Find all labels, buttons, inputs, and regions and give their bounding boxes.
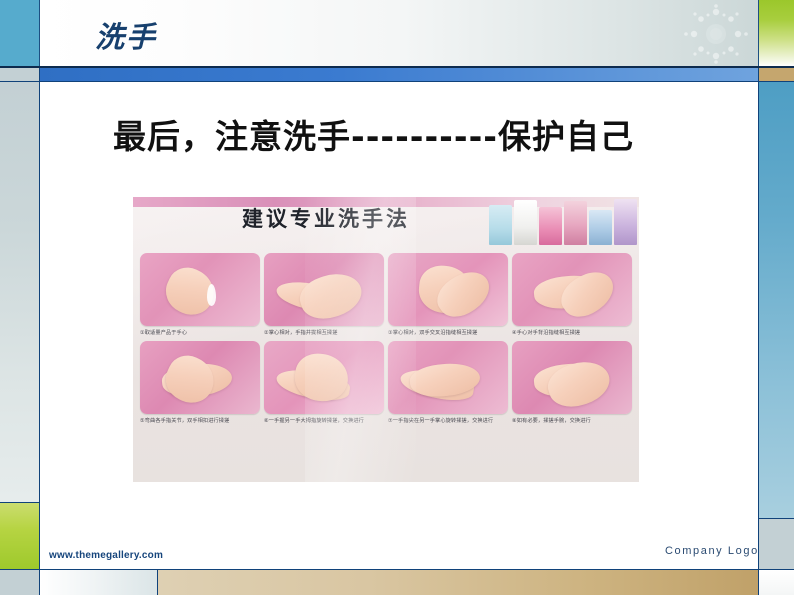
step-cell: ⑦一手指尖在另一手掌心旋转揉搓，交换进行 (388, 341, 508, 425)
header-right-green-block (759, 0, 794, 66)
sidebar-right-divider (759, 518, 794, 519)
step-photo (512, 253, 632, 326)
step-photo (388, 253, 508, 326)
page-title: 洗手 (95, 14, 157, 56)
accent-right-tan (759, 68, 794, 81)
product-bottle (589, 210, 612, 245)
header-underline (0, 66, 794, 68)
footer-left-gray (0, 570, 39, 595)
product-bottle (614, 199, 637, 245)
sidebar-left-divider (0, 502, 40, 503)
sidebar-right-rule (758, 82, 759, 569)
header-green-edge (758, 0, 759, 66)
step-photo (512, 341, 632, 414)
hand-illustration-icon (554, 262, 621, 325)
accent-right-rule (758, 68, 759, 81)
step-photo (264, 341, 384, 414)
footer-rule-a (39, 570, 40, 595)
step-photo (140, 341, 260, 414)
accent-bottom-rule (0, 81, 794, 82)
step-cell: ⑤弯曲各手指关节，双手相扣进行揉搓 (140, 341, 260, 425)
product-bottle (539, 207, 562, 245)
soap-droplet-icon (207, 284, 216, 306)
content-heading: 最后，注意洗手----------保护自己 (113, 110, 634, 158)
accent-blue-bar (40, 68, 758, 81)
sunburst-decoration-icon (668, 2, 764, 66)
step-caption: ⑦一手指尖在另一手掌心旋转揉搓，交换进行 (388, 417, 508, 425)
product-bottle (564, 201, 587, 245)
footer-rule-b (157, 570, 158, 595)
step-cell: ④手心对手背沿指缝相互揉搓 (512, 253, 632, 337)
footer-tan-bar (158, 570, 758, 595)
step-photo (264, 253, 384, 326)
header-divider (39, 0, 40, 66)
accent-left-rule (39, 68, 40, 81)
sidebar-left-green (0, 503, 39, 569)
sidebar-right-gray (759, 519, 794, 569)
step-photo (388, 341, 508, 414)
step-caption: ②掌心相对，手指并拢相互揉搓 (264, 329, 384, 337)
sidebar-left-rule (39, 82, 40, 569)
poster-background: 建议专业洗手法 ①取适量产品于手心 (133, 197, 639, 482)
footer-white-gradient (40, 570, 157, 595)
step-caption: ④手心对手背沿指缝相互揉搓 (512, 329, 632, 337)
hand-illustration-icon (159, 349, 222, 410)
step-cell: ②掌心相对，手指并拢相互揉搓 (264, 253, 384, 337)
step-caption: ⑥一手握另一手大拇指旋转揉搓，交换进行 (264, 417, 384, 425)
footer-rule-c (758, 570, 759, 595)
step-cell: ⑥一手握另一手大拇指旋转揉搓，交换进行 (264, 341, 384, 425)
step-caption: ①取适量产品于手心 (140, 329, 260, 337)
footer-right-white (759, 570, 794, 595)
step-photo (140, 253, 260, 326)
step-cell: ⑧如有必要，揉搓手腕，交换进行 (512, 341, 632, 425)
slide-canvas: 洗手 最后，注意洗手----------保护自己 建议专业洗手法 (0, 0, 794, 595)
product-bottle (514, 200, 537, 245)
step-cell: ③掌心相对，双手交叉沿指缝相互揉搓 (388, 253, 508, 337)
header-left-blue-block (0, 0, 39, 66)
accent-left-gray (0, 68, 39, 81)
product-bottles-group (489, 197, 637, 245)
step-cell: ①取适量产品于手心 (140, 253, 260, 337)
sidebar-right-blue (759, 82, 794, 519)
handwashing-poster-image: 建议专业洗手法 ①取适量产品于手心 (133, 197, 639, 482)
hand-illustration-icon (543, 354, 615, 414)
handwashing-steps-grid: ①取适量产品于手心 ②掌心相对，手指并拢相互揉搓 ③掌心相对，双手交叉沿指缝相互… (140, 253, 632, 425)
company-logo-label: Company Logo (665, 545, 759, 557)
footer-top-rule (0, 569, 794, 570)
step-caption: ③掌心相对，双手交叉沿指缝相互揉搓 (388, 329, 508, 337)
accent-strip-row (0, 68, 794, 81)
step-caption: ⑤弯曲各手指关节，双手相扣进行揉搓 (140, 417, 260, 425)
hand-illustration-icon (295, 266, 367, 326)
product-bottle (489, 205, 512, 245)
footer-website-link[interactable]: www.themegallery.com (49, 550, 163, 561)
sidebar-left-gray (0, 82, 39, 502)
step-caption: ⑧如有必要，揉搓手腕，交换进行 (512, 417, 632, 425)
